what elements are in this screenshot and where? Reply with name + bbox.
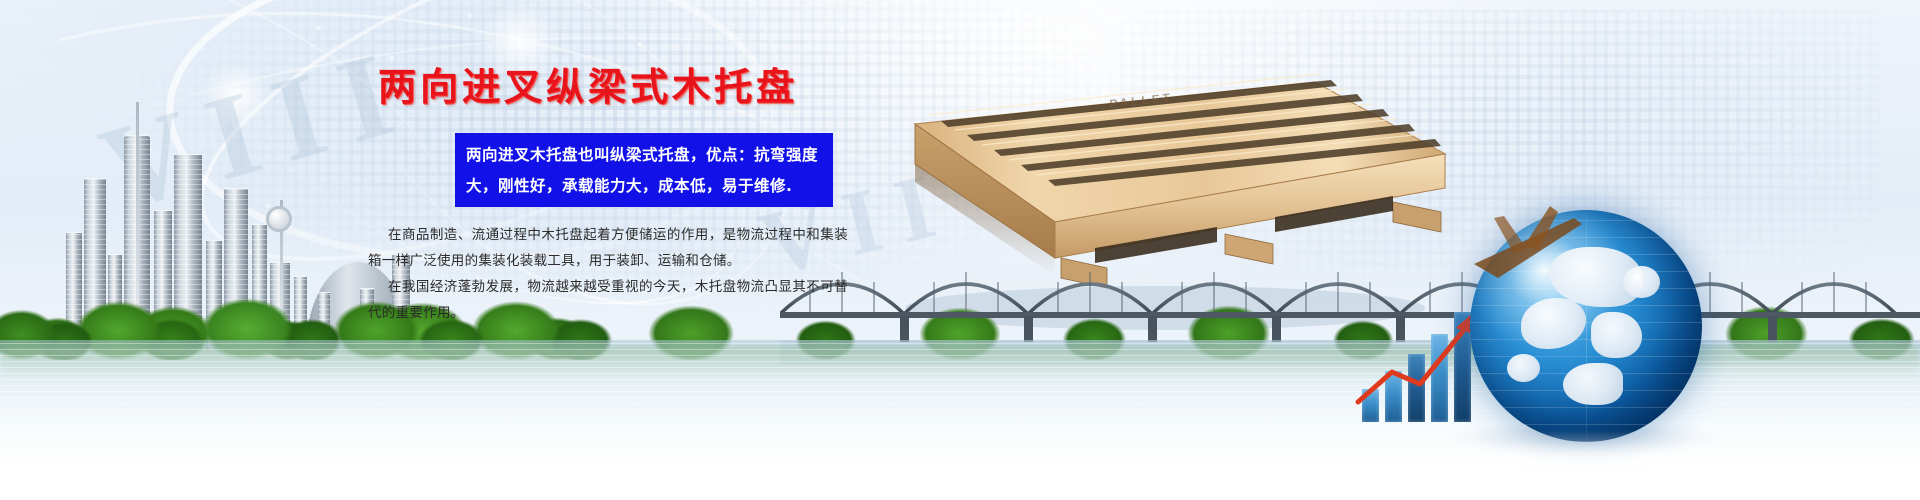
page-title: 两向进叉纵梁式木托盘 [378, 56, 798, 111]
globe-icon [1470, 210, 1702, 442]
highlight-line-2: 大，刚性好，承载能力大，成本低，易于维修. [466, 171, 822, 202]
highlight-callout-box: 两向进叉木托盘也叫纵梁式托盘，优点：抗弯强度 大，刚性好，承载能力大，成本低，易… [455, 133, 833, 207]
body-copy: 在商品制造、流通过程中木托盘起着方便储运的作用，是物流过程中和集装箱一样广泛使用… [368, 222, 848, 326]
body-paragraph-1: 在商品制造、流通过程中木托盘起着方便储运的作用，是物流过程中和集装箱一样广泛使用… [368, 222, 848, 274]
product-banner: VIII VII [0, 0, 1920, 500]
body-paragraph-2: 在我国经济蓬勃发展，物流越来越受重视的今天，木托盘物流凸显其不可替代的重要作用。 [368, 274, 848, 326]
highlight-line-1: 两向进叉木托盘也叫纵梁式托盘，优点：抗弯强度 [466, 140, 822, 171]
airplane-icon [1454, 188, 1604, 298]
